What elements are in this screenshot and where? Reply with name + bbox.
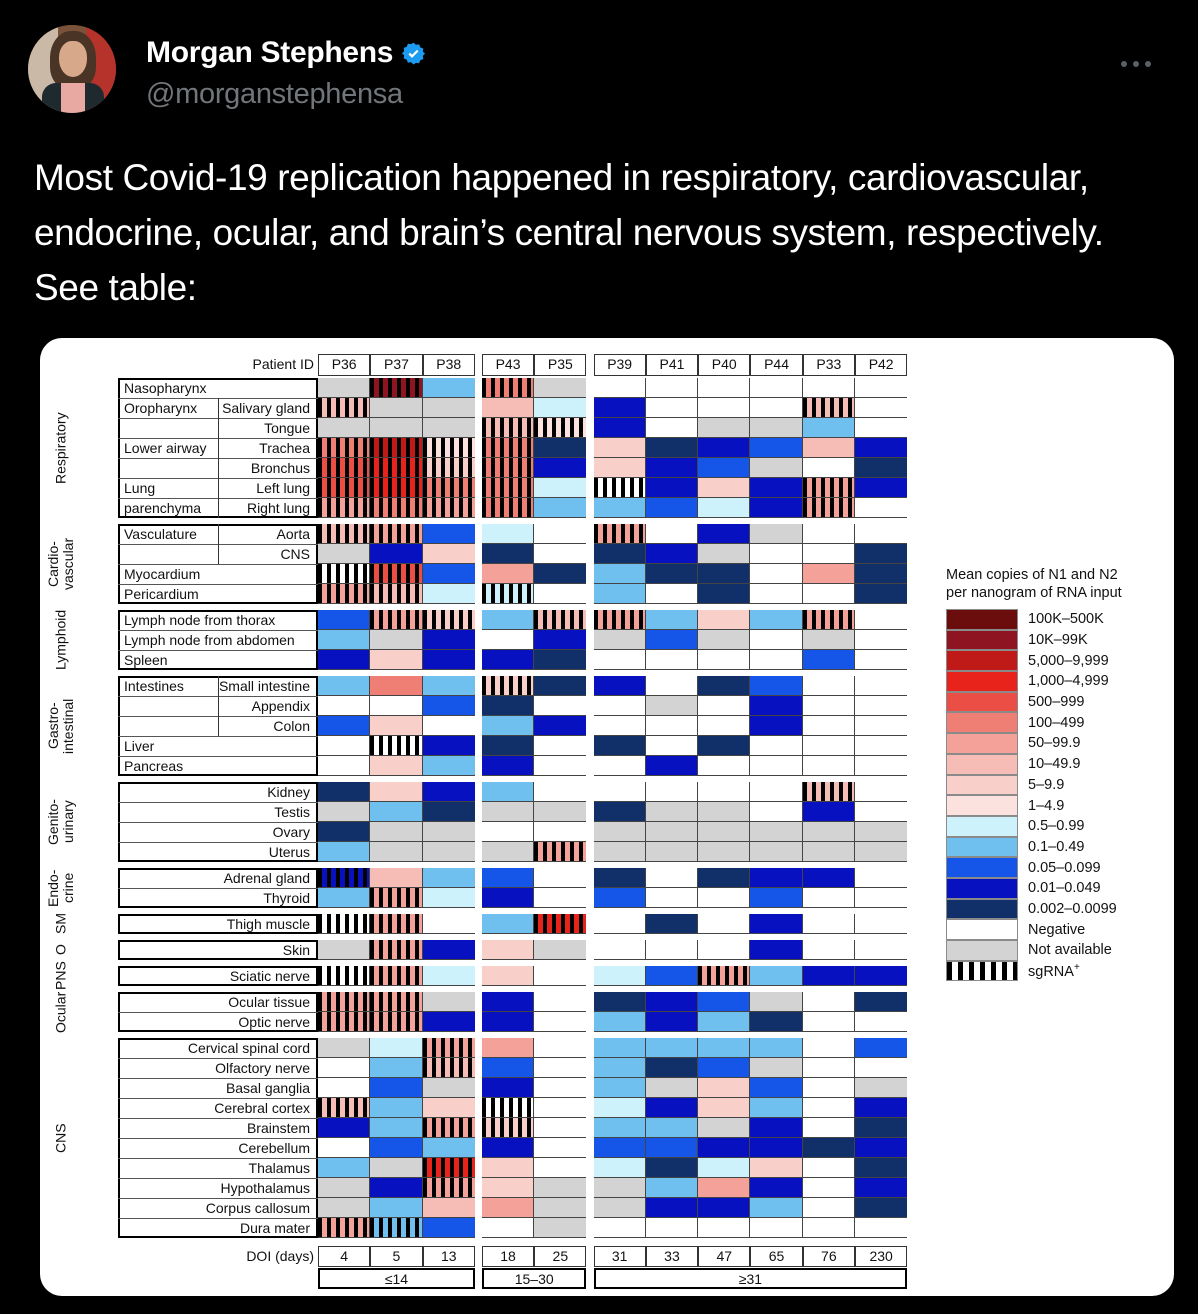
- sgrna-stripe-overlay: [370, 584, 421, 603]
- heatmap-cell: [482, 1078, 534, 1098]
- heatmap-cell: [698, 914, 750, 934]
- heatmap-cell: [318, 822, 370, 842]
- heatmap-cell: [594, 478, 646, 498]
- heatmap-cell: [803, 696, 855, 716]
- heatmap-cell: [646, 696, 698, 716]
- heatmap-cell: [423, 888, 475, 908]
- heatmap-cell: [318, 564, 370, 584]
- heatmap-cell: [646, 630, 698, 650]
- heatmap-cell: [855, 1178, 907, 1198]
- legend-row: 5–9.9: [946, 775, 1161, 796]
- heatmap-cell: [803, 1012, 855, 1032]
- sgrna-stripe-overlay: [482, 418, 533, 437]
- heatmap-cell: [482, 802, 534, 822]
- heatmap-cell: [318, 756, 370, 776]
- heatmap-cell: [646, 1078, 698, 1098]
- heatmap-cell: [698, 696, 750, 716]
- heatmap-cell: [370, 1218, 422, 1238]
- heatmap-cell: [750, 438, 802, 458]
- sgrna-stripe-overlay: [318, 398, 369, 417]
- author-handle[interactable]: @morganstephensa: [146, 78, 403, 111]
- heatmap-cell: [482, 696, 534, 716]
- heatmap-cell: [318, 716, 370, 736]
- heatmap-cell: [534, 524, 586, 544]
- heatmap-cell: [698, 1098, 750, 1118]
- heatmap-cell: [750, 1198, 802, 1218]
- heatmap-cell: [750, 992, 802, 1012]
- heatmap-cell: [698, 782, 750, 802]
- heatmap-cell: [803, 458, 855, 478]
- heatmap-cell: [698, 1118, 750, 1138]
- heatmap-cell: [646, 1198, 698, 1218]
- heatmap-cell: [318, 1218, 370, 1238]
- heatmap-cell: [482, 676, 534, 696]
- heatmap-cell: [855, 1198, 907, 1218]
- sgrna-stripe-overlay: [370, 438, 421, 457]
- heatmap-cell: [855, 1078, 907, 1098]
- legend-swatch: [946, 940, 1018, 961]
- heatmap-cell: [855, 802, 907, 822]
- row-label-secondary: Cerebral cortex: [178, 1099, 314, 1118]
- heatmap-cell: [318, 992, 370, 1012]
- heatmap-cell: [646, 992, 698, 1012]
- heatmap-cell: [370, 1038, 422, 1058]
- heatmap-cell: [534, 418, 586, 438]
- heatmap-cell: [482, 966, 534, 986]
- heatmap-cell: [855, 736, 907, 756]
- heatmap-cell: [594, 438, 646, 458]
- heatmap-cell: [370, 564, 422, 584]
- heatmap-cell: [370, 966, 422, 986]
- doi-group-cell: ≤14: [318, 1268, 475, 1289]
- section-group-label: Respiratory: [44, 378, 78, 518]
- legend-swatch: [946, 837, 1018, 858]
- sgrna-stripe-overlay: [318, 1098, 369, 1117]
- heatmap-cell: [318, 458, 370, 478]
- heatmap-cell: [482, 378, 534, 398]
- legend-row: 100K–500K: [946, 609, 1161, 630]
- heatmap-cell: [646, 650, 698, 670]
- heatmap-cell: [482, 584, 534, 604]
- heatmap-cell: [698, 564, 750, 584]
- legend-row: 5,000–9,999: [946, 650, 1161, 671]
- sgrna-stripe-overlay: [370, 888, 421, 907]
- row-label-secondary: Thigh muscle: [178, 915, 314, 934]
- heatmap-cell: [423, 676, 475, 696]
- heatmap-cell: [482, 736, 534, 756]
- sgrna-stripe-overlay: [423, 498, 475, 517]
- heatmap-cell: [534, 696, 586, 716]
- doi-label: DOI (days): [78, 1248, 314, 1264]
- doi-group-cell: 15–30: [482, 1268, 587, 1289]
- heatmap-cell: [318, 1038, 370, 1058]
- sgrna-stripe-overlay: [318, 868, 369, 887]
- section-group-label: Cardio- vascular: [44, 524, 78, 604]
- heatmap-cell: [534, 1098, 586, 1118]
- heatmap-cell: [698, 650, 750, 670]
- heatmap-cell: [698, 940, 750, 960]
- legend-swatch: [946, 919, 1018, 940]
- heatmap-cell: [750, 1038, 802, 1058]
- patient-id-header: P37: [370, 354, 422, 376]
- heatmap-cell: [423, 1038, 475, 1058]
- patient-id-header: P38: [423, 354, 475, 376]
- row-label-secondary: CNS: [178, 545, 314, 564]
- doi-day-cell: 33: [646, 1246, 698, 1267]
- heatmap-cell: [370, 992, 422, 1012]
- legend-label: 0.05–0.099: [1018, 860, 1101, 876]
- legend-label: Not available: [1018, 942, 1112, 958]
- heatmap-cell: [423, 650, 475, 670]
- heatmap-cell: [423, 696, 475, 716]
- heatmap-cell: [698, 610, 750, 630]
- heatmap-cell: [855, 966, 907, 986]
- legend-label: 5,000–9,999: [1018, 653, 1109, 669]
- heatmap-cell: [534, 1118, 586, 1138]
- sgrna-stripe-overlay: [534, 842, 586, 861]
- heatmap-cell: [594, 992, 646, 1012]
- row-label-secondary: Ovary: [178, 823, 314, 842]
- sgrna-stripe-overlay: [594, 610, 645, 629]
- heatmap-cell: [594, 868, 646, 888]
- heatmap-cell: [534, 544, 586, 564]
- heatmap-cell: [423, 756, 475, 776]
- heatmap-cell: [855, 610, 907, 630]
- sgrna-stripe-overlay: [423, 1118, 475, 1137]
- heatmap-cell: [482, 868, 534, 888]
- heatmap-cell: [482, 822, 534, 842]
- sgrna-stripe-overlay: [423, 1178, 475, 1197]
- legend-swatch: [946, 857, 1018, 878]
- heatmap-cell: [855, 992, 907, 1012]
- heatmap-cell: [594, 736, 646, 756]
- heatmap-cell: [646, 398, 698, 418]
- heatmap-cell: [318, 478, 370, 498]
- heatmap-cell: [423, 438, 475, 458]
- heatmap-cell: [482, 438, 534, 458]
- sgrna-stripe-overlay: [423, 1038, 475, 1057]
- heatmap-cell: [423, 1158, 475, 1178]
- heatmap-cell: [803, 1098, 855, 1118]
- heatmap-cell: [482, 398, 534, 418]
- heatmap-cell: [646, 610, 698, 630]
- heatmap-cell: [855, 868, 907, 888]
- heatmap-cell: [423, 802, 475, 822]
- heatmap-cell: [594, 1012, 646, 1032]
- heatmap-cell: [594, 1098, 646, 1118]
- doi-day-cell: 18: [482, 1246, 534, 1267]
- heatmap-cell: [594, 1078, 646, 1098]
- heatmap-cell: [534, 822, 586, 842]
- heatmap-cell: [318, 676, 370, 696]
- sgrna-stripe-overlay: [318, 914, 369, 933]
- more-options-icon[interactable]: [1116, 52, 1156, 76]
- heatmap-cell: [318, 782, 370, 802]
- heatmap-cell: [855, 544, 907, 564]
- heatmap-cell: [482, 1012, 534, 1032]
- heatmap-cell: [423, 398, 475, 418]
- legend-swatch: [946, 816, 1018, 837]
- heatmap-cell: [855, 940, 907, 960]
- heatmap-cell: [750, 782, 802, 802]
- heatmap-cell: [370, 610, 422, 630]
- legend-label: 50–99.9: [1018, 735, 1080, 751]
- doi-day-cell: 76: [803, 1246, 855, 1267]
- heatmap-cell: [482, 842, 534, 862]
- heatmap-cell: [646, 564, 698, 584]
- legend-row: 0.002–0.0099: [946, 899, 1161, 920]
- patient-id-header: P39: [594, 354, 646, 376]
- heatmap-cell: [318, 1098, 370, 1118]
- legend-label: 500–999: [1018, 694, 1084, 710]
- heatmap-cell: [534, 842, 586, 862]
- heatmap-cell: [534, 1158, 586, 1178]
- heatmap-cell: [646, 1038, 698, 1058]
- sgrna-stripe-overlay: [803, 498, 854, 517]
- heatmap-cell: [803, 822, 855, 842]
- heatmap-cell: [698, 1178, 750, 1198]
- heatmap-cell: [750, 716, 802, 736]
- heatmap-cell: [594, 564, 646, 584]
- heatmap-cell: [594, 716, 646, 736]
- heatmap-cell: [646, 676, 698, 696]
- legend-swatch: [946, 733, 1018, 754]
- heatmap-cell: [370, 1118, 422, 1138]
- heatmap-cell: [594, 914, 646, 934]
- heatmap-cell: [698, 1058, 750, 1078]
- heatmap-cell: [803, 1118, 855, 1138]
- heatmap-cell: [855, 398, 907, 418]
- heatmap-cell: [423, 1218, 475, 1238]
- heatmap-cell: [423, 1012, 475, 1032]
- heatmap-cell: [594, 782, 646, 802]
- tweet-text: Most Covid-19 replication happened in re…: [34, 150, 1154, 315]
- heatmap-cell: [646, 418, 698, 438]
- heatmap-cell: [423, 966, 475, 986]
- heatmap-cell: [750, 564, 802, 584]
- verified-badge-icon: [401, 41, 426, 66]
- heatmap-cell: [482, 1178, 534, 1198]
- heatmap-cell: [803, 676, 855, 696]
- sgrna-stripe-overlay: [482, 378, 533, 397]
- heatmap-cell: [594, 544, 646, 564]
- heatmap-cell: [318, 696, 370, 716]
- heatmap-cell: [646, 584, 698, 604]
- heatmap-cell: [318, 914, 370, 934]
- heatmap-cell: [534, 868, 586, 888]
- display-name: Morgan Stephens: [146, 36, 393, 70]
- heatmap-cell: [594, 940, 646, 960]
- legend-row: 500–999: [946, 692, 1161, 713]
- heatmap-cell: [482, 992, 534, 1012]
- sgrna-stripe-overlay: [803, 610, 854, 629]
- heatmap-cell: [534, 782, 586, 802]
- row-label-primary: Pericardium: [120, 585, 316, 604]
- heatmap-cell: [482, 1118, 534, 1138]
- heatmap-cell: [855, 564, 907, 584]
- heatmap-cell: [318, 1178, 370, 1198]
- heatmap-cell: [750, 1118, 802, 1138]
- heatmap-cell: [370, 842, 422, 862]
- heatmap-cell: [698, 630, 750, 650]
- heatmap-cell: [318, 1158, 370, 1178]
- heatmap-cell: [803, 498, 855, 518]
- heatmap-cell: [698, 992, 750, 1012]
- doi-day-cell: 47: [698, 1246, 750, 1267]
- doi-day-cell: 230: [855, 1246, 907, 1267]
- heatmap-cell: [803, 1058, 855, 1078]
- row-label-secondary: Bronchus: [178, 459, 314, 478]
- heatmap-cell: [534, 398, 586, 418]
- heatmap-cell: [594, 1218, 646, 1238]
- heatmap-cell: [803, 1078, 855, 1098]
- heatmap-cell: [750, 676, 802, 696]
- heatmap-cell: [318, 438, 370, 458]
- row-label-secondary: Brainstem: [178, 1119, 314, 1138]
- heatmap-cell: [534, 564, 586, 584]
- sgrna-stripe-overlay: [370, 736, 421, 755]
- heatmap-cell: [646, 756, 698, 776]
- doi-day-cell: 5: [370, 1246, 422, 1267]
- row-label-secondary: Dura mater: [178, 1219, 314, 1238]
- heatmap-cell: [370, 1178, 422, 1198]
- sgrna-stripe-overlay: [370, 478, 421, 497]
- patient-id-header: P44: [750, 354, 802, 376]
- heatmap-cell: [855, 822, 907, 842]
- heatmap-cell: [803, 736, 855, 756]
- sgrna-stripe-overlay: [423, 458, 475, 477]
- sgrna-stripe-overlay: [318, 478, 369, 497]
- heatmap-cell: [594, 458, 646, 478]
- heatmap-cell: [750, 610, 802, 630]
- heatmap-cell: [698, 1138, 750, 1158]
- heatmap-cell: [698, 888, 750, 908]
- heatmap-cell: [534, 1198, 586, 1218]
- heatmap-cell: [594, 1158, 646, 1178]
- heatmap-cell: [482, 716, 534, 736]
- heatmap-cell: [855, 1098, 907, 1118]
- heatmap-cell: [646, 1012, 698, 1032]
- heatmap-cell: [370, 1058, 422, 1078]
- heatmap-cell: [534, 676, 586, 696]
- heatmap-cell: [534, 1138, 586, 1158]
- legend-label: 100–499: [1018, 715, 1084, 731]
- heatmap-cell: [803, 914, 855, 934]
- heatmap-cell: [750, 1218, 802, 1238]
- heatmap-cell: [750, 1158, 802, 1178]
- sgrna-stripe-overlay: [534, 914, 586, 933]
- heatmap-cell: [423, 564, 475, 584]
- section-group-label: Lymphoid: [44, 610, 78, 670]
- heatmap-cell: [855, 1218, 907, 1238]
- heatmap-cell: [318, 398, 370, 418]
- heatmap-cell: [750, 914, 802, 934]
- heatmap-cell: [370, 524, 422, 544]
- heatmap-cell: [646, 544, 698, 564]
- sgrna-stripe-overlay: [370, 498, 421, 517]
- heatmap-cell: [594, 498, 646, 518]
- heatmap-cell: [855, 782, 907, 802]
- row-label-secondary: Skin: [178, 941, 314, 960]
- sgrna-stripe-overlay: [370, 564, 421, 583]
- row-label-secondary: Appendix: [178, 697, 314, 716]
- legend-swatch: [946, 630, 1018, 651]
- heatmap-cell: [594, 1058, 646, 1078]
- sgrna-stripe-overlay: [534, 610, 586, 629]
- sgrna-stripe-overlay: [370, 914, 421, 933]
- legend-row: 0.1–0.49: [946, 837, 1161, 858]
- heatmap-cell: [594, 676, 646, 696]
- avatar[interactable]: [28, 25, 116, 113]
- legend-row: 10–49.9: [946, 754, 1161, 775]
- row-label-secondary: Aorta: [178, 525, 314, 544]
- legend-row: 0.01–0.049: [946, 878, 1161, 899]
- row-label-secondary: Sciatic nerve: [178, 967, 314, 986]
- heatmap-cell: [318, 966, 370, 986]
- sgrna-stripe-overlay: [318, 458, 369, 477]
- heatmap-cell: [803, 650, 855, 670]
- heatmap-cell: [698, 478, 750, 498]
- author-name-row[interactable]: Morgan Stephens: [146, 36, 426, 70]
- sgrna-stripe-overlay: [803, 782, 854, 801]
- legend-row: 1–4.9: [946, 795, 1161, 816]
- doi-day-cell: 31: [594, 1246, 646, 1267]
- heatmap-cell: [750, 1138, 802, 1158]
- heatmap-cell: [646, 1058, 698, 1078]
- heatmap-cell: [750, 650, 802, 670]
- heatmap-cell: [482, 914, 534, 934]
- legend-swatch: [946, 795, 1018, 816]
- heatmap-cell: [698, 756, 750, 776]
- heatmap-cell: [750, 378, 802, 398]
- legend-swatch: [946, 899, 1018, 920]
- heatmap-cell: [534, 498, 586, 518]
- heatmap-cell: [698, 716, 750, 736]
- heatmap-cell: [698, 1158, 750, 1178]
- heatmap-cell: [370, 630, 422, 650]
- heatmap-cell: [482, 782, 534, 802]
- heatmap-cell: [646, 524, 698, 544]
- heatmap-cell: [855, 1158, 907, 1178]
- heatmap-cell: [698, 584, 750, 604]
- heatmap-cell: [750, 736, 802, 756]
- heatmap-cell: [646, 1118, 698, 1138]
- heatmap-cell: [534, 610, 586, 630]
- heatmap-cell: [370, 888, 422, 908]
- sgrna-stripe-overlay: [370, 966, 421, 985]
- heatmap-cell: [594, 610, 646, 630]
- legend-label: Negative: [1018, 922, 1085, 938]
- legend-row: sgRNA+: [946, 961, 1161, 982]
- heatmap-cell: [370, 1012, 422, 1032]
- heatmap-cell: [318, 544, 370, 564]
- patient-id-header: P35: [534, 354, 586, 376]
- patient-id-header: P33: [803, 354, 855, 376]
- row-label-secondary: Cervical spinal cord: [178, 1039, 314, 1058]
- doi-day-cell: 13: [423, 1246, 475, 1267]
- heatmap-cell: [370, 478, 422, 498]
- row-label-secondary: Cerebellum: [178, 1139, 314, 1158]
- heatmap-cell: [646, 1158, 698, 1178]
- heatmap-cell: [750, 458, 802, 478]
- sgrna-stripe-overlay: [318, 438, 369, 457]
- heatmap-cell: [646, 716, 698, 736]
- row-label-secondary: Basal ganglia: [178, 1079, 314, 1098]
- heatmap-cell: [698, 842, 750, 862]
- heatmap-cell: [750, 696, 802, 716]
- heatmap-cell: [855, 756, 907, 776]
- section-group-label: PNS: [44, 966, 78, 986]
